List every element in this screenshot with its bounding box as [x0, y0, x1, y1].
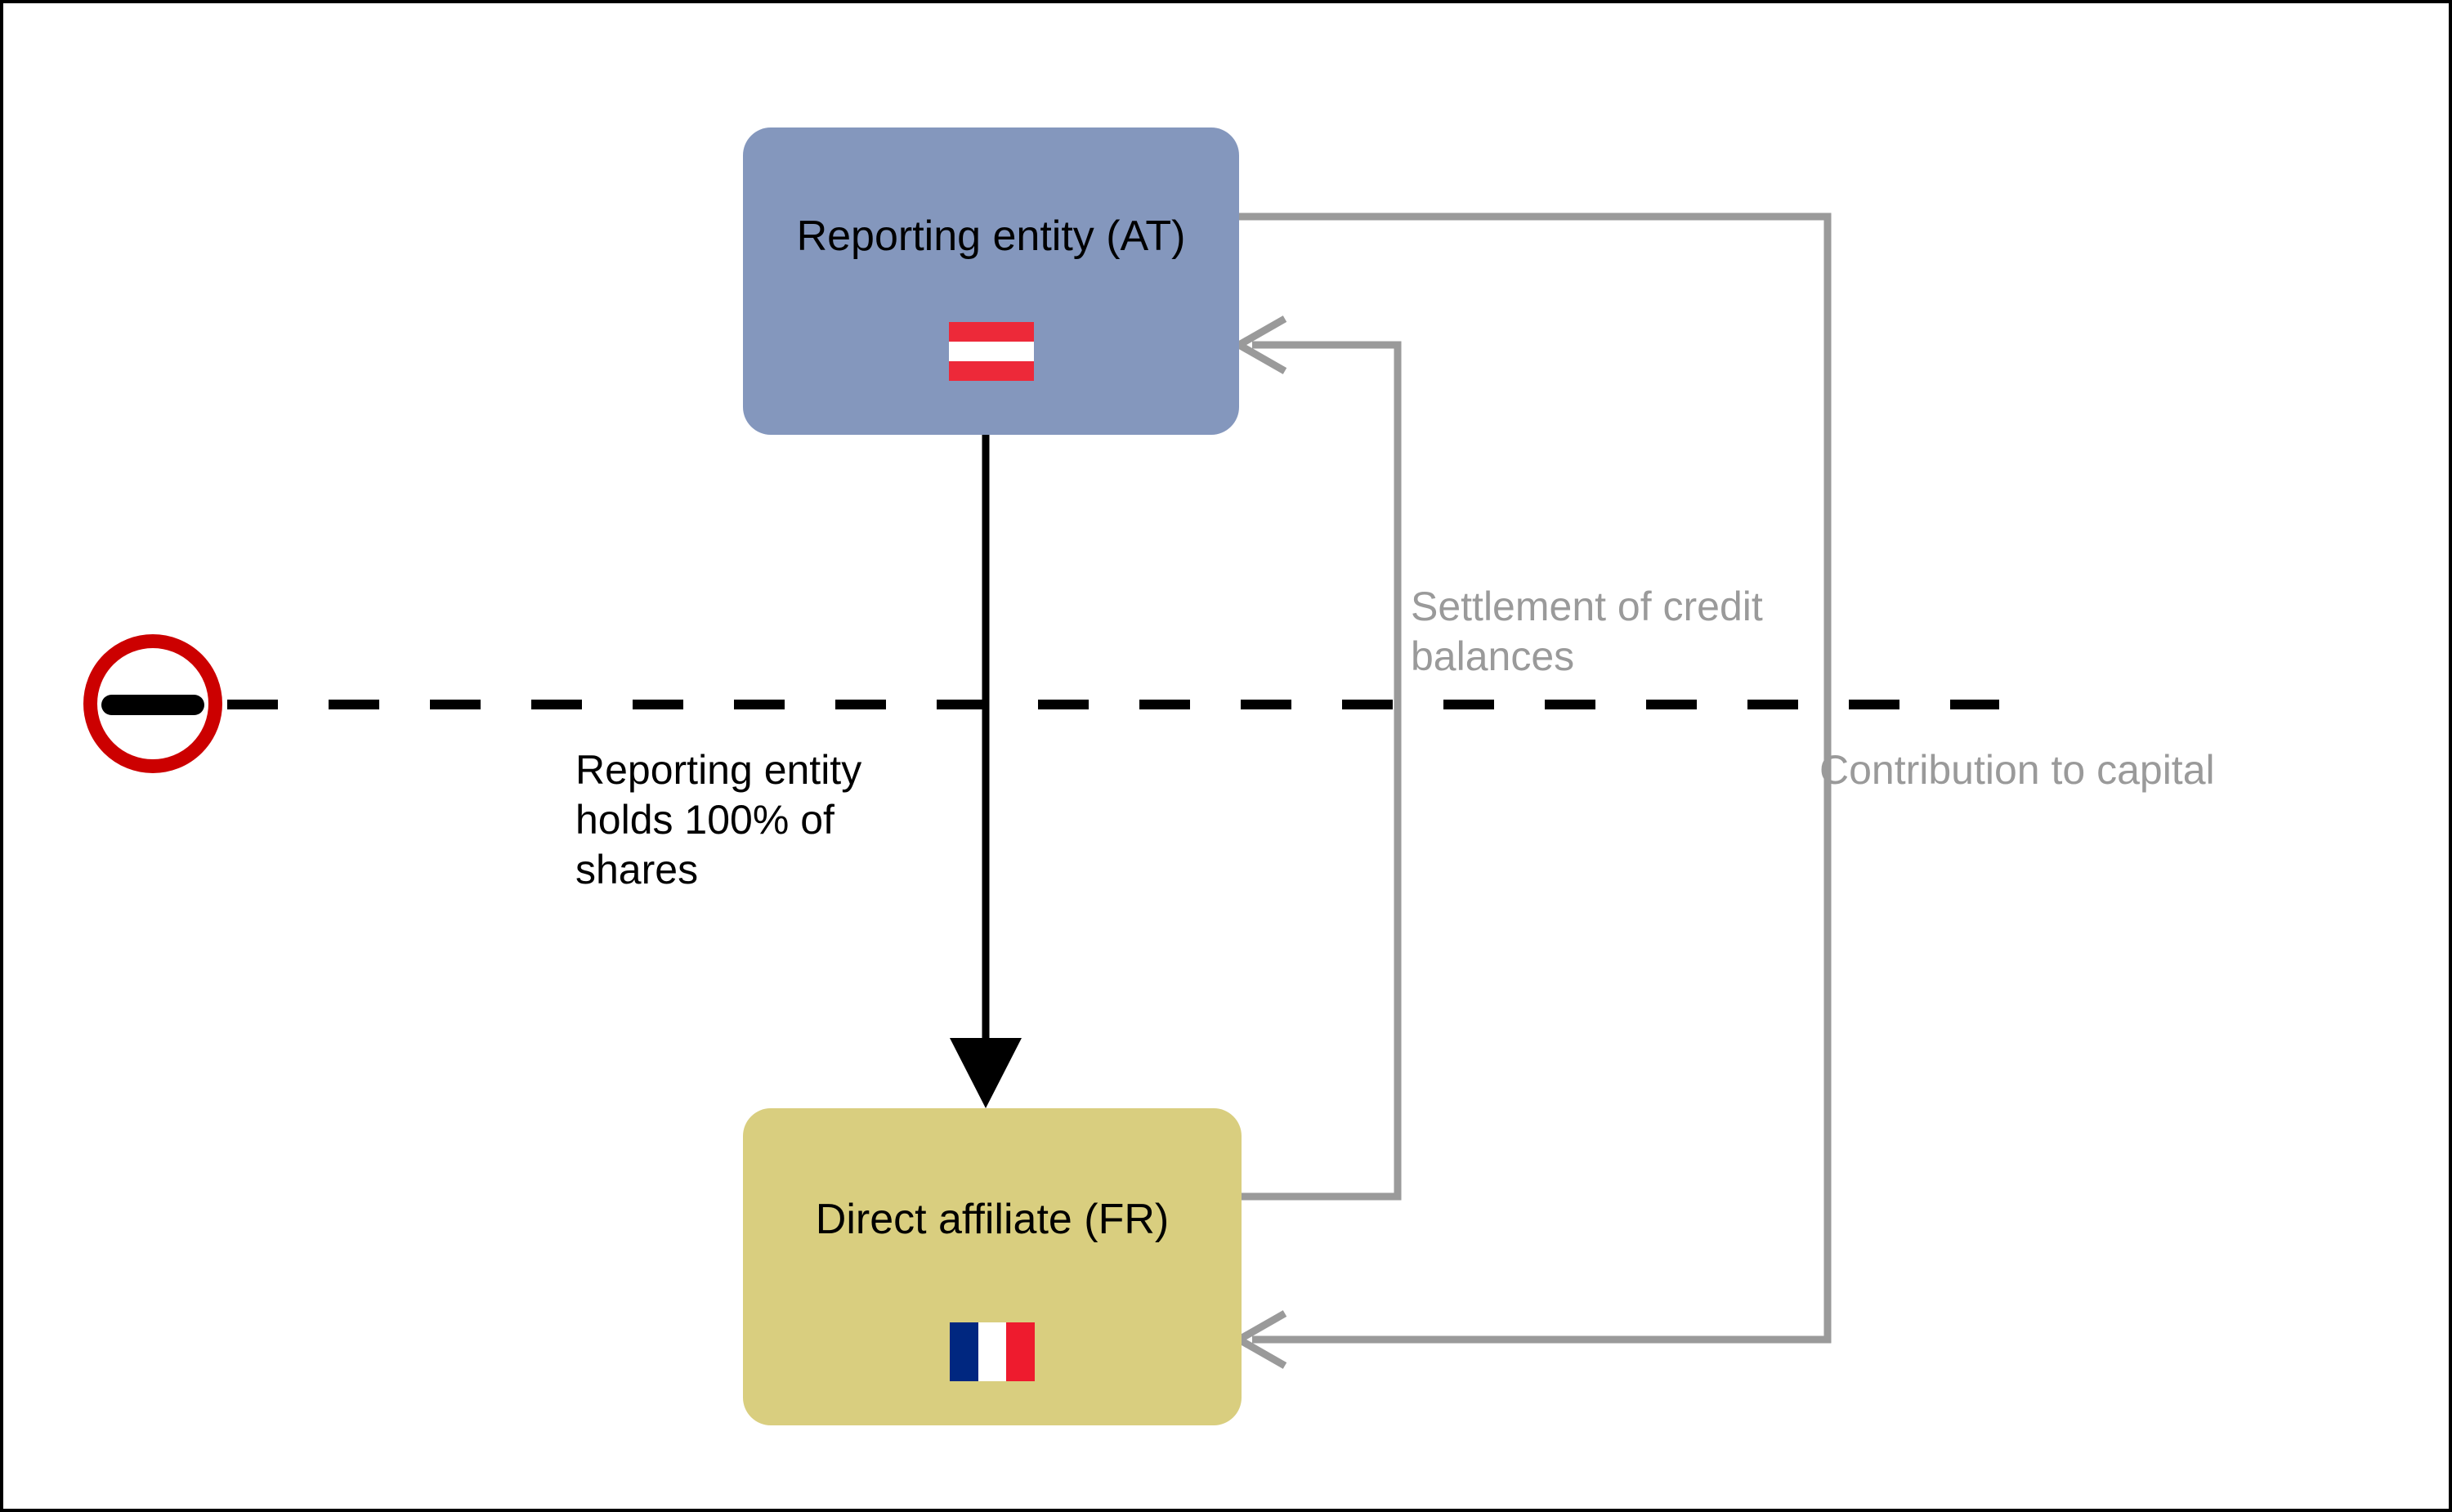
settlement-edge-label: Settlement of credit balances	[1411, 582, 1868, 682]
settlement-connector	[1239, 319, 1398, 1197]
austria-flag	[949, 322, 1034, 381]
contribution-edge-label: Contribution to capital	[1819, 745, 2392, 795]
no-entry-icon	[83, 634, 222, 773]
ownership-edge-label: Reporting entity holds 100% of shares	[575, 745, 1000, 895]
no-entry-bar	[101, 695, 204, 715]
france-flag	[950, 1322, 1035, 1381]
node-direct-affiliate[interactable]: Direct affiliate (FR)	[743, 1108, 1242, 1425]
node-reporting-entity-label: Reporting entity (AT)	[743, 213, 1239, 260]
node-direct-affiliate-label: Direct affiliate (FR)	[743, 1197, 1242, 1243]
contribution-connector	[1239, 217, 1828, 1366]
node-reporting-entity[interactable]: Reporting entity (AT)	[743, 127, 1239, 435]
diagram-canvas: Reporting entity (AT) Direct affiliate (…	[0, 0, 2452, 1512]
